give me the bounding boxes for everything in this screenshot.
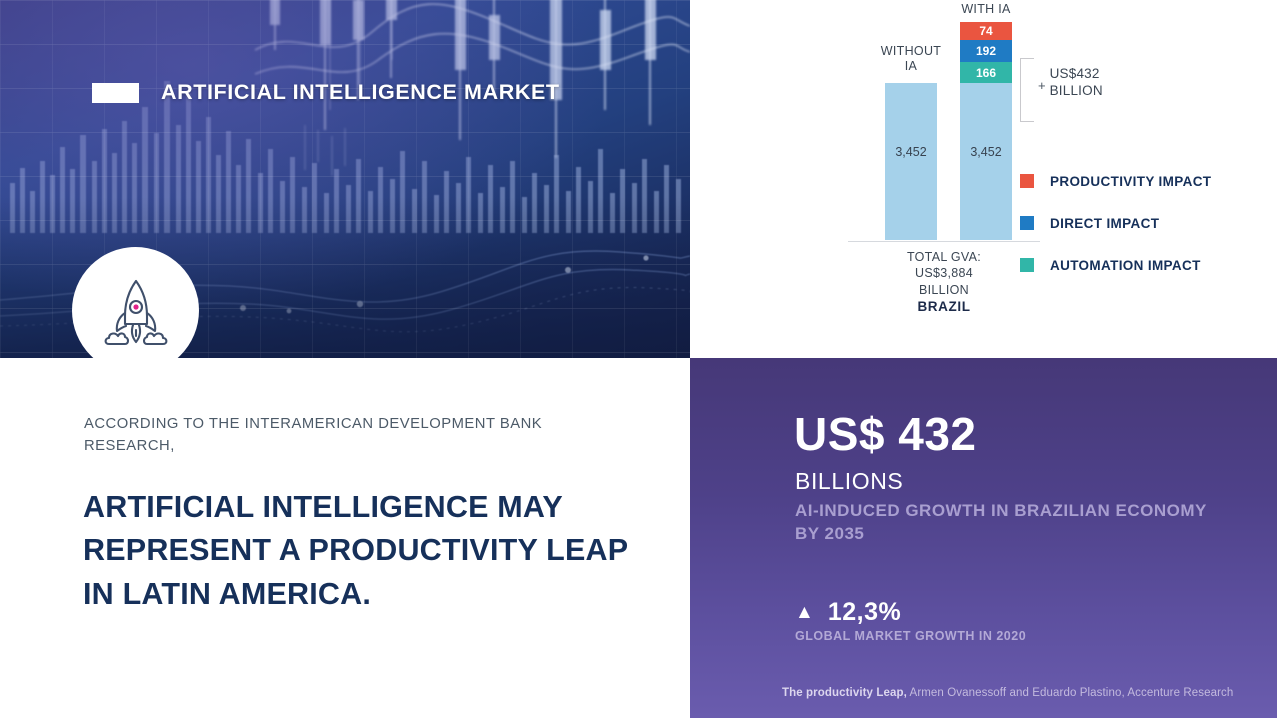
- chart-panel: WITHOUTIA WITH IA 3,452 74 192 166 3,452…: [690, 0, 1277, 358]
- chart-category-label-with-ia: WITH IA: [946, 2, 1026, 18]
- stat-credit: The productivity Leap, Armen Ovanessoff …: [782, 687, 1252, 699]
- statement-panel: ACCORDING TO THE INTERAMERICAN DEVELOPME…: [0, 358, 690, 718]
- bar-segment-productivity: 74: [960, 22, 1012, 40]
- chart-area: WITHOUTIA WITH IA 3,452 74 192 166 3,452…: [770, 28, 1270, 328]
- chart-annotation-callout: + US$432BILLION: [1038, 66, 1103, 100]
- hero-panel: ARTIFICIAL INTELLIGENCE MARKET: [0, 0, 690, 358]
- chart-legend: PRODUCTIVITY IMPACT DIRECT IMPACT AUTOMA…: [1020, 160, 1211, 286]
- statement-headline: ARTIFICIAL INTELLIGENCE MAY REPRESENT A …: [83, 486, 643, 616]
- legend-label: PRODUCTIVITY IMPACT: [1050, 174, 1211, 189]
- rocket-porthole-dot: [133, 304, 138, 309]
- credit-source-title: The productivity Leap,: [782, 687, 907, 699]
- legend-item-productivity: PRODUCTIVITY IMPACT: [1020, 160, 1211, 202]
- chart-category-label-without-ia: WITHOUTIA: [866, 44, 956, 75]
- triangle-up-icon: ▲: [795, 603, 814, 622]
- legend-item-automation: AUTOMATION IMPACT: [1020, 244, 1211, 286]
- bar-column-with-ia: 74 192 166 3,452: [960, 22, 1012, 240]
- stat-growth-caption: GLOBAL MARKET GROWTH IN 2020: [795, 629, 1026, 643]
- credit-authors: Armen Ovanessoff and Eduardo Plastino, A…: [907, 687, 1234, 699]
- bar-segment-base: 3,452: [960, 83, 1012, 240]
- chart-axis-line: [848, 241, 1040, 242]
- legend-item-direct: DIRECT IMPACT: [1020, 202, 1211, 244]
- legend-swatch-icon: [1020, 174, 1034, 188]
- stat-growth-row: ▲ 12,3%: [795, 598, 901, 627]
- hero-title-row: ARTIFICIAL INTELLIGENCE MARKET: [92, 80, 560, 105]
- legend-swatch-icon: [1020, 258, 1034, 272]
- stat-description: AI-INDUCED GROWTH IN BRAZILIAN ECONOMY B…: [795, 500, 1215, 546]
- chart-country-label: BRAZIL: [834, 298, 1054, 316]
- legend-label: AUTOMATION IMPACT: [1050, 258, 1201, 273]
- stat-big-number: US$ 432: [794, 411, 977, 457]
- infographic-slide: ARTIFICIAL INTELLIGENCE MARKET: [0, 0, 1277, 718]
- white-block-icon: [92, 83, 139, 103]
- page-title: ARTIFICIAL INTELLIGENCE MARKET: [161, 80, 560, 105]
- chart-annotation-text: US$432BILLION: [1050, 66, 1103, 100]
- stat-units: BILLIONS: [795, 468, 903, 495]
- legend-swatch-icon: [1020, 216, 1034, 230]
- bar-segment-automation: 166: [960, 62, 1012, 83]
- statement-kicker: ACCORDING TO THE INTERAMERICAN DEVELOPME…: [84, 413, 614, 457]
- rocket-icon: [97, 272, 175, 350]
- legend-label: DIRECT IMPACT: [1050, 216, 1159, 231]
- bar-segment-base: 3,452: [885, 83, 937, 240]
- bar-segment-direct: 192: [960, 40, 1012, 62]
- bar-column-without-ia: 3,452: [885, 83, 937, 240]
- chart-bracket-icon: [1020, 58, 1034, 122]
- plus-icon: +: [1038, 79, 1046, 92]
- stat-growth-value: 12,3%: [828, 598, 901, 627]
